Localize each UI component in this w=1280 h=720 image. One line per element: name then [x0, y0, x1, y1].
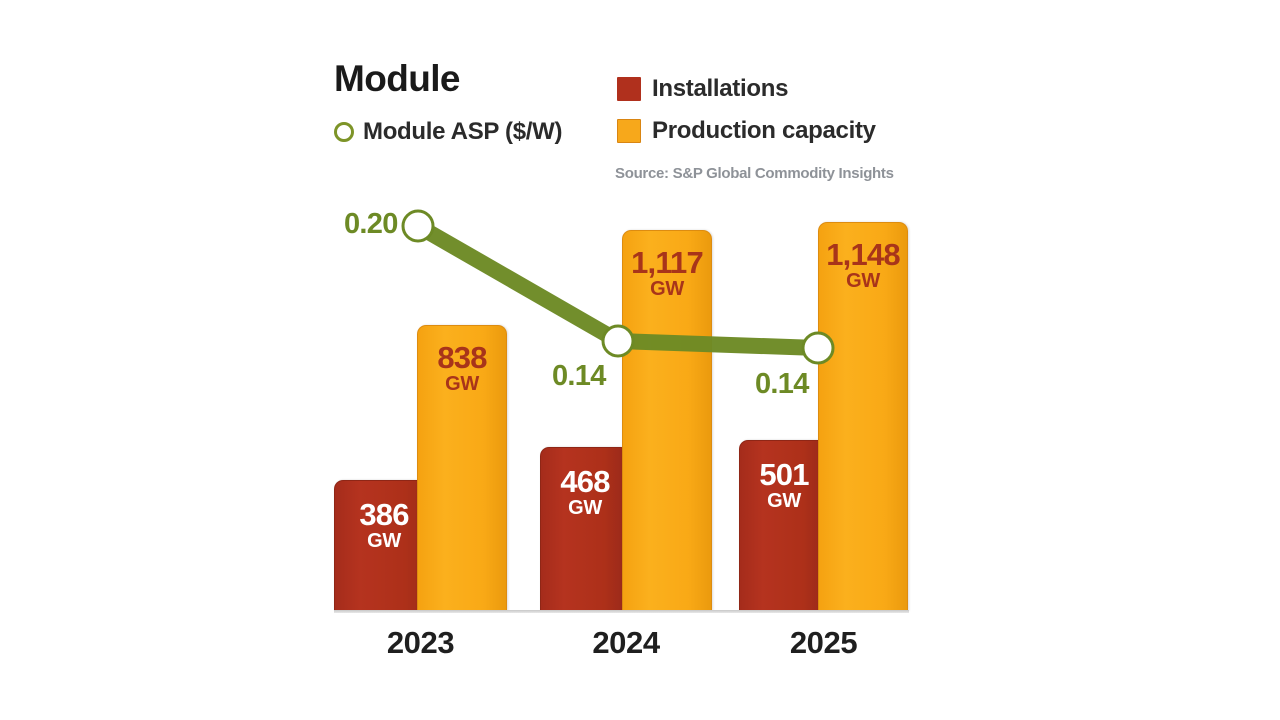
x-axis-tick-2023: 2023	[334, 625, 507, 661]
x-axis-tick-2025: 2025	[739, 625, 908, 661]
x-axis-line	[334, 610, 909, 613]
bar-value-label: 501 GW	[740, 459, 828, 511]
bar-capacity-2023[interactable]: 838 GW	[417, 325, 507, 611]
asp-value-label-2024: 0.14	[552, 360, 606, 393]
bar-capacity-2025[interactable]: 1,148 GW	[818, 222, 908, 611]
chart-figure: Module Module ASP ($/W) Installations Pr…	[0, 0, 1280, 720]
x-axis-tick-2024: 2024	[540, 625, 712, 661]
bar-value-label: 468 GW	[541, 466, 629, 518]
asp-value-label-2023: 0.20	[344, 208, 398, 241]
bar-capacity-2024[interactable]: 1,117 GW	[622, 230, 712, 611]
bar-installations-2024[interactable]: 468 GW	[540, 447, 630, 611]
asp-value-label-2025: 0.14	[755, 368, 809, 401]
bar-value-label: 1,117 GW	[623, 247, 711, 299]
plot-area: 386 GW 838 GW 468 GW 1,117 GW	[0, 0, 1280, 720]
bar-value-label: 1,148 GW	[819, 239, 907, 291]
bar-value-label: 838 GW	[418, 342, 506, 394]
asp-marker-2023	[403, 211, 433, 241]
bar-installations-2025[interactable]: 501 GW	[739, 440, 829, 611]
